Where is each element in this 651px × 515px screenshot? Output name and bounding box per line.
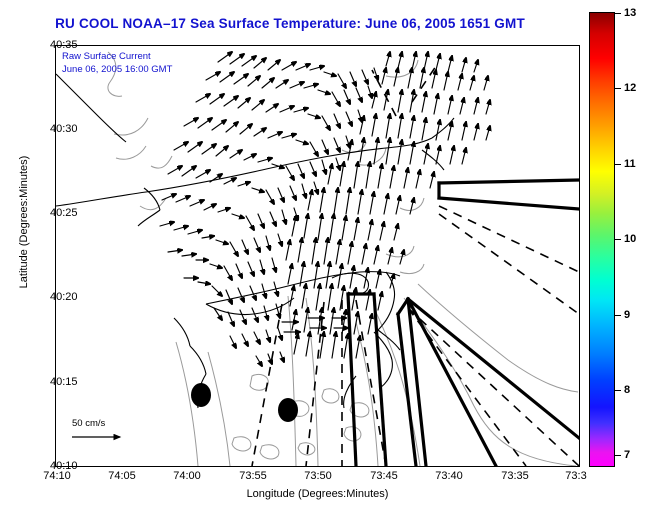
- colorbar-tick-label: 11: [624, 158, 636, 170]
- colorbar-tick-label: 10: [624, 233, 636, 245]
- radar-coverage-wedges: [348, 180, 579, 466]
- y-tick-label: 40:15: [50, 376, 78, 388]
- colorbar-tick-label: 7: [624, 449, 630, 461]
- vector-scale-legend: 50 cm/s: [64, 418, 154, 448]
- annotation-line-1: Raw Surface Current: [62, 50, 172, 63]
- temperature-colorbar: [589, 12, 615, 467]
- figure-title: RU COOL NOAA–17 Sea Surface Temperature:…: [0, 16, 580, 31]
- y-tick-label: 40:10: [50, 460, 78, 472]
- x-tick-label: 73:50: [304, 470, 332, 482]
- colorbar-tick-label: 13: [624, 7, 636, 19]
- x-tick-label: 73:55: [239, 470, 267, 482]
- x-tick-label: 73:35: [501, 470, 529, 482]
- figure-root: RU COOL NOAA–17 Sea Surface Temperature:…: [0, 0, 651, 515]
- x-tick-label: 73:40: [435, 470, 463, 482]
- y-tick-label: 40:30: [50, 123, 78, 135]
- y-tick-label: 40:35: [50, 39, 78, 51]
- bathymetry-contours: [108, 52, 578, 466]
- annotation-line-2: June 06, 2005 16:00 GMT: [62, 63, 172, 76]
- x-axis-label: Longitude (Degrees:Minutes): [55, 488, 580, 500]
- y-tick-label: 40:25: [50, 207, 78, 219]
- surface-current-vectors: [160, 52, 490, 366]
- x-tick-label: 73:3: [565, 470, 586, 482]
- x-tick-label: 74:05: [108, 470, 136, 482]
- scale-legend-label: 50 cm/s: [64, 418, 154, 429]
- colorbar-tick-label: 12: [624, 82, 636, 94]
- map-canvas: [56, 46, 579, 466]
- y-axis-label: Latitude (Degrees:Minutes): [18, 112, 30, 332]
- colorbar-tick-label: 9: [624, 309, 630, 321]
- radar-bearing-rays: [252, 66, 579, 466]
- x-tick-label: 73:45: [370, 470, 398, 482]
- map-plot-area: Raw Surface Current June 06, 2005 16:00 …: [55, 45, 580, 467]
- radar-station-markers: [191, 383, 298, 422]
- y-tick-label: 40:20: [50, 291, 78, 303]
- scale-arrow-icon: [70, 431, 132, 443]
- x-tick-label: 74:00: [173, 470, 201, 482]
- current-annotation: Raw Surface Current June 06, 2005 16:00 …: [62, 50, 172, 76]
- colorbar-tick-label: 8: [624, 384, 630, 396]
